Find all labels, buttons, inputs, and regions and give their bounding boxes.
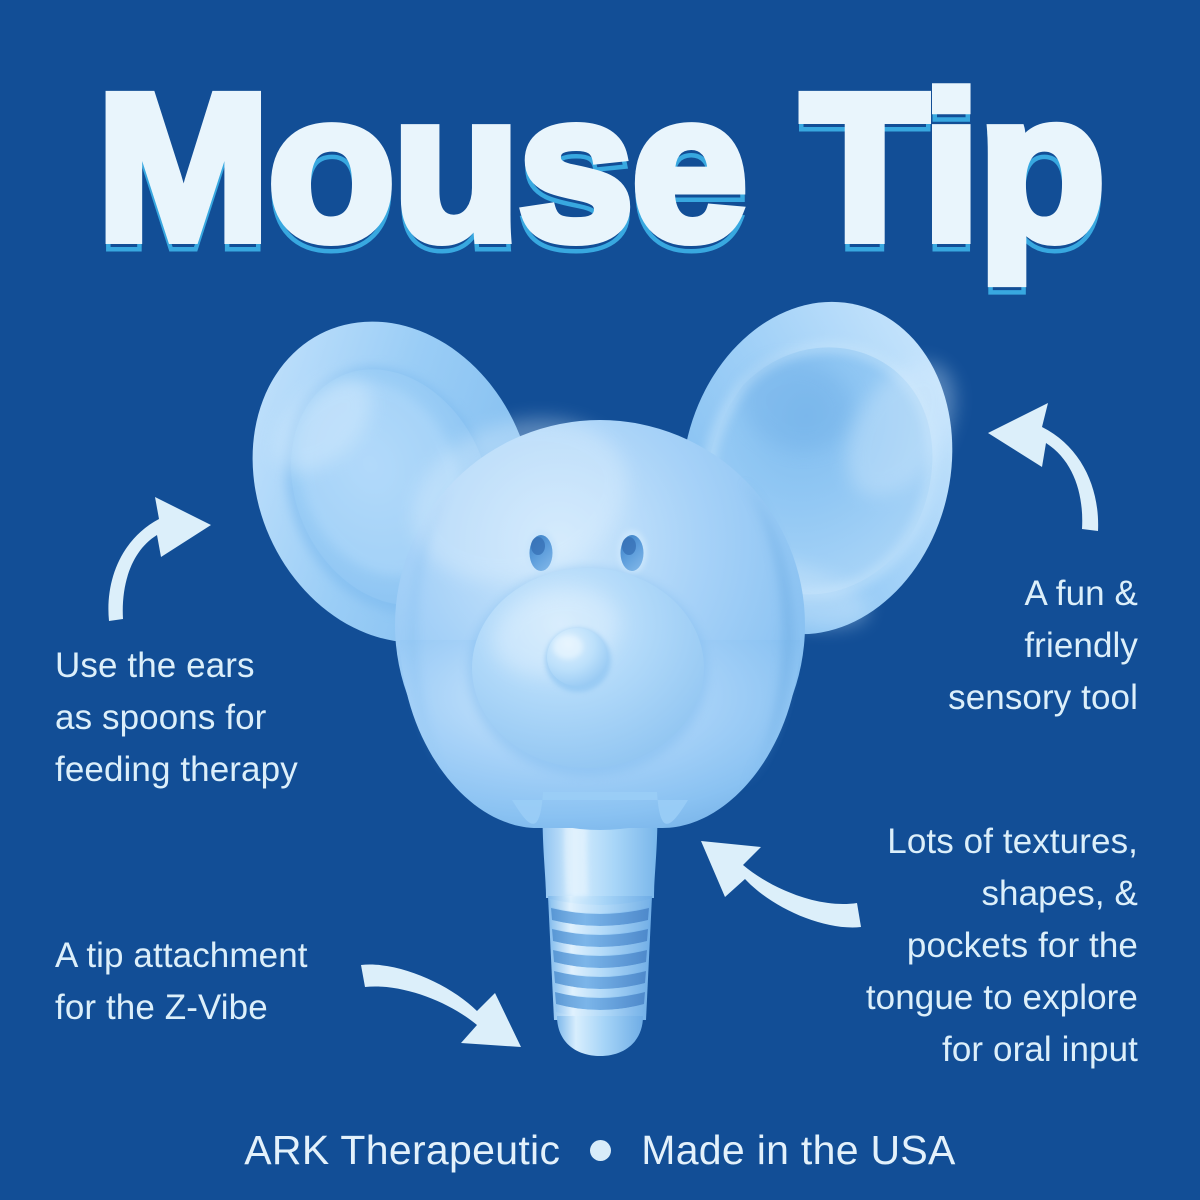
- right-eye: [617, 530, 647, 574]
- stem-tip: [557, 1016, 643, 1056]
- caption-lots-of-textures: Lots of textures, shapes, & pockets for …: [818, 816, 1138, 1076]
- footer-brand: ARK Therapeutic: [244, 1124, 560, 1176]
- caption-fun-friendly: A fun & friendly sensory tool: [848, 568, 1138, 724]
- poster-canvas: Mouse Tip Mouse Tip Mouse Tip: [0, 0, 1200, 1200]
- threaded-stem: [548, 896, 652, 1056]
- arrow-to-right-ear-icon: [950, 385, 1110, 535]
- caption-tip-attachment: A tip attachment for the Z-Vibe: [55, 930, 415, 1034]
- arrow-to-left-ear-icon: [95, 485, 245, 625]
- footer-dot-separator-icon: [590, 1140, 611, 1161]
- nose: [545, 628, 611, 692]
- footer-origin: Made in the USA: [641, 1124, 955, 1176]
- caption-use-the-ears: Use the ears as spoons for feeding thera…: [55, 640, 395, 796]
- left-eye: [526, 530, 556, 574]
- footer: ARK Therapeutic Made in the USA: [0, 1124, 1200, 1176]
